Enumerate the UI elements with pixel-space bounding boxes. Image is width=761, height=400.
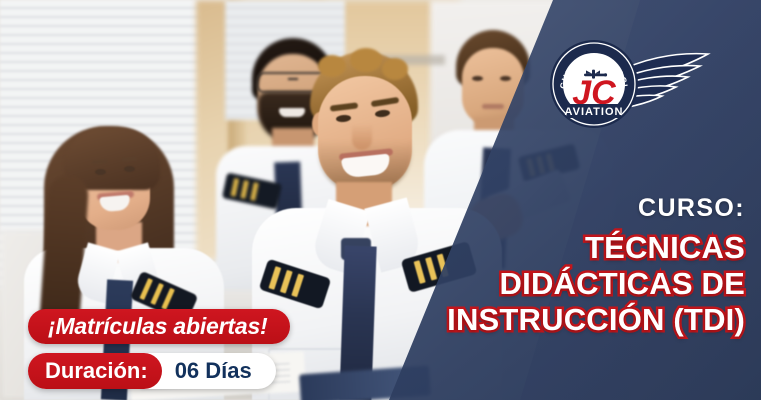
student-b-mouth — [279, 108, 305, 117]
duration-value: 06 Días — [162, 353, 258, 389]
epaulet-stripe — [161, 288, 175, 310]
student-c-nose — [352, 124, 372, 150]
epaulet-stripe — [280, 270, 293, 294]
student-a-eye — [124, 166, 135, 172]
student-d-eye — [472, 76, 483, 81]
student-d-eye — [500, 76, 511, 81]
student-c-hair-curl — [382, 58, 408, 80]
epaulet-stripe — [231, 178, 240, 197]
student-c-hair-curl — [350, 48, 382, 72]
duration-badge[interactable]: Duración: 06 Días — [28, 353, 276, 389]
course-copy-block: CURSO: TÉCNICAS DIDÁCTICAS DE INSTRUCCIÓ… — [325, 196, 745, 338]
duration-label: Duración: — [28, 353, 162, 389]
epaulet-stripe — [250, 182, 259, 201]
glasses-bridge — [288, 78, 298, 80]
epaulet-stripe — [150, 283, 164, 305]
page-title: TÉCNICAS DIDÁCTICAS DE INSTRUCCIÓN (TDI) — [325, 230, 745, 338]
student-c-hair-curl — [318, 55, 346, 77]
title-line-3: INSTRUCCIÓN (TDI) — [325, 302, 745, 338]
epaulet-stripe — [240, 180, 249, 199]
epaulet-stripe — [139, 278, 153, 300]
epaulet-stripe — [291, 274, 304, 298]
logo-bottom-text: AVIATION — [565, 106, 624, 118]
title-line-2: DIDÁCTICAS DE — [325, 266, 745, 302]
epaulet-stripe — [268, 266, 281, 290]
eyebrow-label: CURSO: — [325, 196, 745, 221]
enrollment-badge-label: ¡Matrículas abiertas! — [48, 315, 268, 338]
title-line-1: TÉCNICAS — [325, 230, 745, 266]
student-d-mouth — [482, 104, 504, 109]
enrollment-badge[interactable]: ¡Matrículas abiertas! — [28, 309, 290, 344]
student-a-eye — [95, 169, 106, 175]
jc-aviation-logo[interactable]: ESCUELA DE AVIACIÓN JC AVIATION — [548, 38, 738, 130]
course-promo-banner: ESCUELA DE AVIACIÓN JC AVIATION CURSO: T… — [0, 0, 761, 400]
